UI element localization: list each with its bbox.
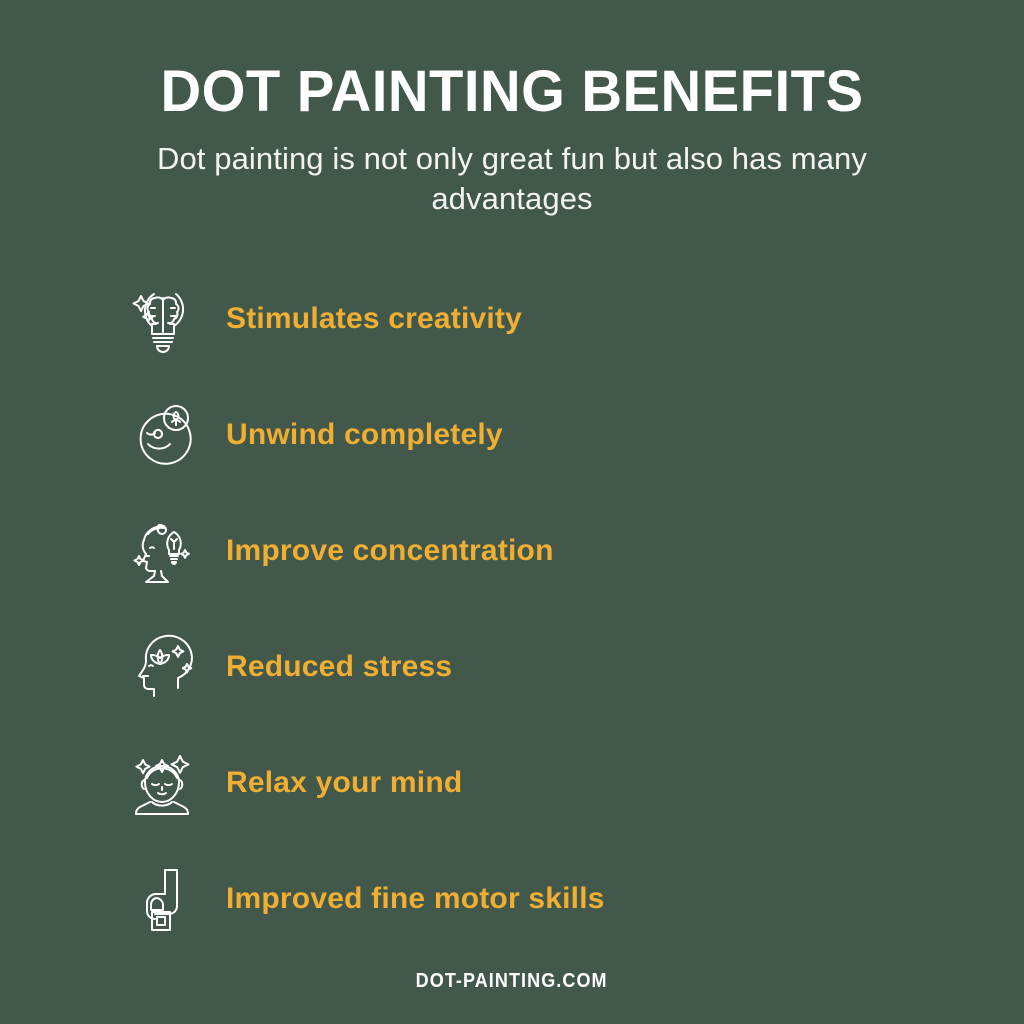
head-lotus-icon — [128, 630, 196, 704]
list-item: Improved fine motor skills — [128, 841, 1024, 957]
footer: DOT-PAINTING.COM — [0, 970, 1024, 993]
head-lightbulb-icon — [128, 514, 196, 588]
smiling-face-flower-icon — [128, 398, 196, 472]
list-item-label: Improve concentration — [226, 534, 554, 568]
calm-face-sparkles-icon — [128, 746, 196, 820]
list-item-label: Unwind completely — [226, 418, 503, 452]
list-item-label: Relax your mind — [226, 766, 462, 800]
list-item: Reduced stress — [128, 609, 1024, 725]
poster-canvas: DOT PAINTING BENEFITS Dot painting is no… — [0, 0, 1024, 1024]
list-item-label: Stimulates creativity — [226, 302, 522, 336]
hand-pinching-block-icon — [128, 862, 196, 936]
website-url: DOT-PAINTING.COM — [416, 970, 608, 993]
lightbulb-brain-icon — [128, 282, 196, 356]
page-subtitle: Dot painting is not only great fun but a… — [142, 139, 882, 220]
header: DOT PAINTING BENEFITS Dot painting is no… — [0, 0, 1024, 219]
page-title: DOT PAINTING BENEFITS — [15, 62, 1008, 123]
benefits-list: Stimulates creativity Unwind completely — [0, 261, 1024, 957]
list-item: Stimulates creativity — [128, 261, 1024, 377]
list-item: Unwind completely — [128, 377, 1024, 493]
list-item-label: Improved fine motor skills — [226, 882, 605, 916]
list-item-label: Reduced stress — [226, 650, 452, 684]
list-item: Improve concentration — [128, 493, 1024, 609]
list-item: Relax your mind — [128, 725, 1024, 841]
